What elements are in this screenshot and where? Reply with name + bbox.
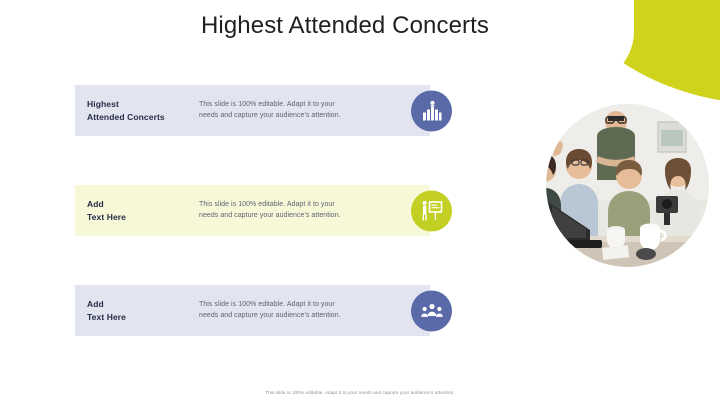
row-heading-3: Add Text Here [87,298,183,323]
row-body-1: This slide is 100% editable. Adapt it to… [183,100,351,122]
content-row-2[interactable]: Add Text Here This slide is 100% editabl… [75,185,430,236]
team-meeting-photo [546,104,709,267]
row-heading-2: Add Text Here [87,198,183,223]
row-body-3: This slide is 100% editable. Adapt it to… [183,300,351,322]
row-heading-1: Highest Attended Concerts [87,98,183,123]
row-heading-line2: Text Here [87,311,183,323]
row-body-2: This slide is 100% editable. Adapt it to… [183,200,351,222]
row-heading-line2: Text Here [87,211,183,223]
content-row-3[interactable]: Add Text Here This slide is 100% editabl… [75,285,430,336]
footer-note: This slide is 100% editable. Adapt it to… [0,390,720,395]
row-heading-line1: Add [87,298,183,310]
presenter-whiteboard-icon [411,190,452,231]
row-heading-line1: Highest [87,98,183,110]
concert-stage-icon [411,90,452,131]
row-heading-line1: Add [87,198,183,210]
content-row-1[interactable]: Highest Attended Concerts This slide is … [75,85,430,136]
audience-group-icon [411,290,452,331]
page-title: Highest Attended Concerts [0,12,690,40]
content-row-list: Highest Attended Concerts This slide is … [75,85,430,336]
row-heading-line2: Attended Concerts [87,111,183,123]
